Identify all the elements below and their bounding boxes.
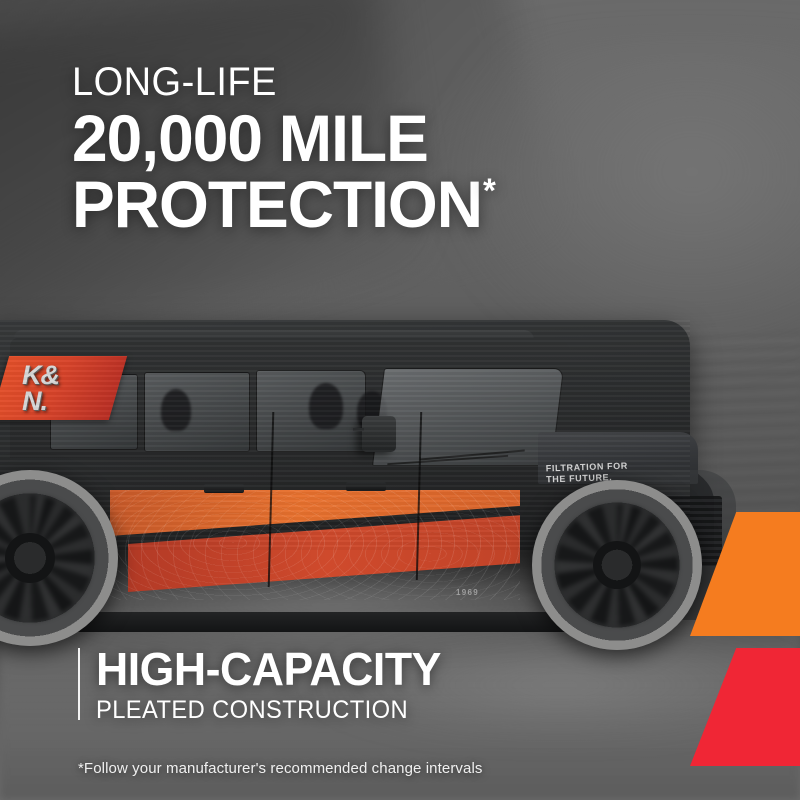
- kn-logo-line-1: K&: [22, 362, 132, 388]
- headline-asterisk: *: [483, 172, 495, 210]
- headline-line-2: PROTECTION*: [72, 172, 494, 236]
- headline-block: LONG-LIFE 20,000 MILE PROTECTION*: [72, 60, 507, 236]
- rocker-panel: [48, 612, 568, 632]
- door-badge-1969: 1969: [456, 588, 479, 597]
- kn-logo-line-2: N.: [22, 388, 132, 414]
- subhead-secondary: PLEATED CONSTRUCTION: [96, 695, 434, 725]
- windshield: [372, 368, 564, 466]
- door-handle-rear: [204, 484, 244, 493]
- subhead-main: HIGH-CAPACITY: [96, 646, 441, 692]
- subhead-block: HIGH-CAPACITY PLEATED CONSTRUCTION: [78, 646, 452, 725]
- headline-line-2-text: PROTECTION: [72, 167, 482, 241]
- vehicle-jeep: FILTRATION FORTHE FUTURE. 1969 K& N.: [0, 230, 780, 650]
- footnote-disclaimer: *Follow your manufacturer's recommended …: [78, 760, 482, 777]
- kn-logo-text: K& N.: [22, 356, 132, 420]
- occupant-rear: [161, 389, 191, 431]
- door-stripe-graphic: [110, 490, 520, 600]
- headline-kicker: LONG-LIFE: [72, 60, 485, 104]
- headline-line-1: 20,000 MILE: [72, 106, 494, 170]
- occupant-passenger: [309, 383, 343, 429]
- window-middle: [144, 372, 250, 452]
- wheel-front: [532, 480, 702, 650]
- door-handle-front: [346, 482, 386, 491]
- advertisement-canvas: FILTRATION FORTHE FUTURE. 1969 K& N.: [0, 0, 800, 800]
- side-mirror: [362, 416, 396, 452]
